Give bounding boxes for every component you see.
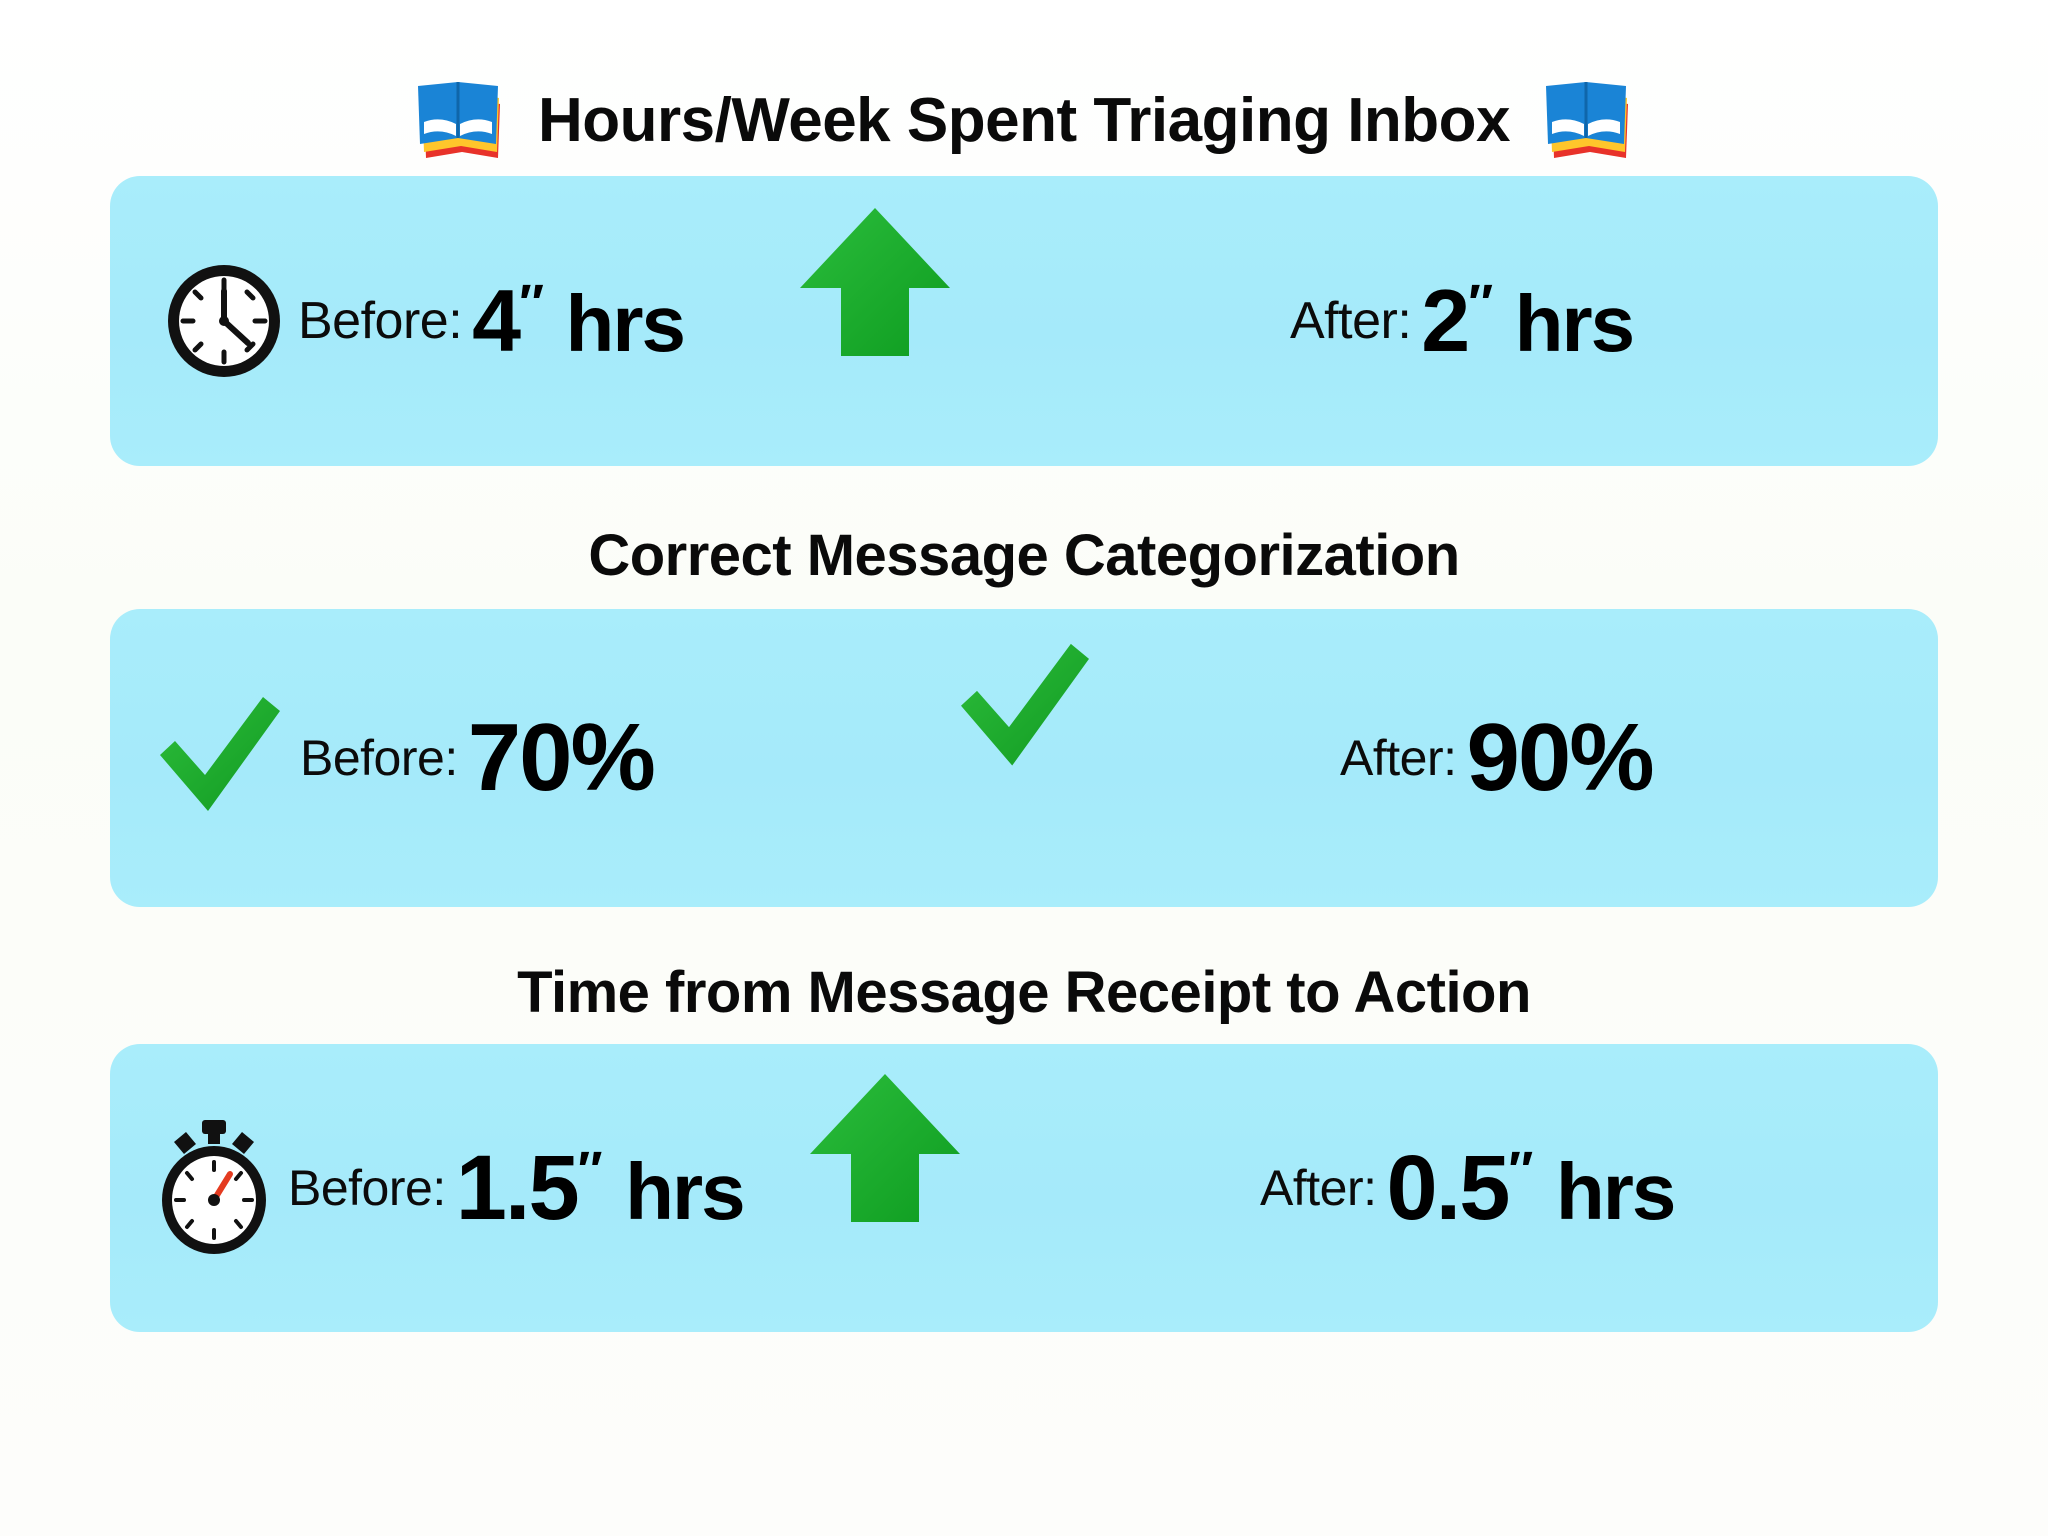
after-label-time: After:	[1260, 1159, 1376, 1217]
before-group-categorization: Before: 70%	[150, 683, 654, 833]
after-value-hours: 2″ hrs	[1421, 270, 1633, 372]
before-value-hours: 4″ hrs	[472, 270, 684, 372]
after-label-categorization: After:	[1340, 729, 1456, 787]
after-number-time: 0.5	[1386, 1137, 1508, 1239]
after-mark-time: ″	[1508, 1141, 1532, 1199]
section-3-header: Time from Message Receipt to Action	[110, 959, 1938, 1026]
section-time-to-action: Time from Message Receipt to Action	[110, 959, 1938, 1332]
before-group-time: Before: 1.5″ hrs	[150, 1118, 744, 1258]
check-mark-icon-middle	[950, 629, 1090, 779]
before-group-hours: Before: 4″ hrs	[160, 257, 684, 385]
section-3-title: Time from Message Receipt to Action	[517, 959, 1531, 1026]
before-value-categorization: 70%	[468, 703, 654, 813]
after-mark-hours: ″	[1468, 275, 1492, 333]
before-number-time: 1.5	[456, 1137, 578, 1239]
infographic-canvas: Hours/Week Spent Triaging Inbox	[0, 0, 2048, 1536]
after-value-time: 0.5″ hrs	[1386, 1136, 1674, 1241]
metric-card-hours: Before: 4″ hrs After: 2″ hrs	[110, 176, 1938, 466]
before-label-time: Before:	[288, 1159, 446, 1217]
metric-card-time-to-action: Before: 1.5″ hrs After: 0.5″ hrs	[110, 1044, 1938, 1332]
after-unit-time: hrs	[1556, 1147, 1675, 1236]
up-arrow-icon-hours	[790, 196, 960, 366]
before-number-hours: 4	[472, 271, 519, 370]
after-number-hours: 2	[1421, 271, 1468, 370]
books-icon-left	[410, 78, 510, 162]
section-2-title: Correct Message Categorization	[588, 522, 1459, 589]
after-unit-hours: hrs	[1515, 279, 1634, 368]
before-unit-time: hrs	[625, 1147, 744, 1236]
up-arrow-icon-time	[800, 1062, 970, 1232]
before-label-hours: Before:	[298, 291, 462, 351]
section-1-header: Hours/Week Spent Triaging Inbox	[110, 78, 1938, 162]
after-group-categorization: After: 90%	[1340, 703, 1653, 813]
before-mark-hours: ″	[519, 275, 543, 333]
after-group-time: After: 0.5″ hrs	[1260, 1136, 1674, 1241]
section-correct-categorization: Correct Message Categorization	[110, 522, 1938, 907]
books-icon-right	[1538, 78, 1638, 162]
section-hours-per-week: Hours/Week Spent Triaging Inbox	[110, 78, 1938, 466]
metric-card-categorization: Before: 70% After: 90%	[110, 609, 1938, 907]
stopwatch-icon	[150, 1118, 278, 1258]
before-mark-time: ″	[578, 1141, 602, 1199]
before-label-categorization: Before:	[300, 729, 458, 787]
after-group-hours: After: 2″ hrs	[1290, 270, 1633, 372]
clock-icon	[160, 257, 288, 385]
before-unit-hours: hrs	[565, 279, 684, 368]
section-2-header: Correct Message Categorization	[110, 522, 1938, 589]
check-mark-icon	[150, 683, 290, 833]
section-1-title: Hours/Week Spent Triaging Inbox	[538, 85, 1510, 156]
after-value-categorization: 90%	[1466, 703, 1652, 813]
before-value-time: 1.5″ hrs	[456, 1136, 744, 1241]
after-label-hours: After:	[1290, 291, 1411, 351]
